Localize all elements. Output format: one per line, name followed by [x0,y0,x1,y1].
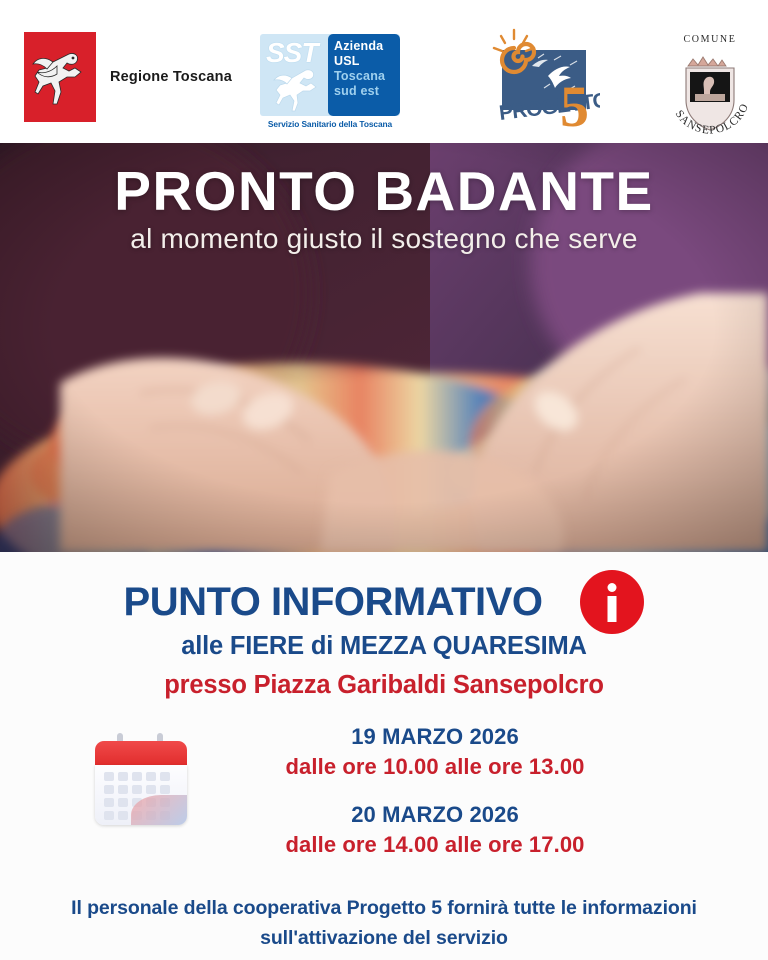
banner-title: PRONTO BADANTE [0,164,768,219]
usl-caption: Servizio Sanitario della Toscana [260,119,400,129]
logo-regione-toscana-label: Regione Toscana [110,69,232,85]
venue-line: presso Piazza Garibaldi Sansepolcro [0,671,768,700]
regione-toscana-shield [24,32,96,122]
logo-comune-sansepolcro: COMUNE SANSEPOLCRO [664,28,756,136]
usl-box: SST Azienda USL Toscana sud est [260,34,400,116]
calendar-header [95,741,187,767]
session-time: dalle ore 10.00 alle ore 13.00 [230,752,640,782]
logo-regione-toscana: Regione Toscana [24,32,232,122]
calendar-icon [95,733,187,829]
event-line: alle FIERE di MEZZA QUARESIMA [0,632,768,661]
heading-row: PUNTO INFORMATIVO [0,570,768,634]
calendar-body [95,765,187,825]
session-date: 20 MARZO 2026 [230,800,640,830]
info-icon-dot [608,583,617,592]
session-time: dalle ore 14.00 alle ore 17.00 [230,830,640,860]
sessions-list: 19 MARZO 2026 dalle ore 10.00 alle ore 1… [230,722,640,860]
calendar-swoosh [131,795,187,825]
logo-azienda-usl: SST Azienda USL Toscana sud est Servizio… [260,34,400,134]
progetto-5-emblem-icon: PROGETTO 5 [484,28,600,136]
usl-line3: Toscana [334,69,400,84]
poster: Regione Toscana SST Azienda USL Toscana … [0,0,768,960]
session-date: 19 MARZO 2026 [230,722,640,752]
info-icon [580,570,644,634]
crowned-shield-icon: SANSEPOLCRO [664,44,756,136]
page-title: PUNTO INFORMATIVO [124,580,543,625]
footer-line-2: sull'attivazione del servizio [0,923,768,953]
banner-photo: PRONTO BADANTE al momento giusto il sost… [0,143,768,552]
usl-line2: USL [334,54,400,69]
usl-line1: Azienda [334,39,400,54]
banner-subtitle: al momento giusto il sostegno che serve [0,223,768,255]
logo-bar: Regione Toscana SST Azienda USL Toscana … [0,0,768,143]
info-icon-stem [608,596,617,622]
pegasus-icon [29,44,91,110]
usl-line4: sud est [334,84,400,99]
footer-line-1: Il personale della cooperativa Progetto … [0,893,768,923]
usl-text-block: Azienda USL Toscana sud est [328,34,400,116]
pegasus-white-icon [270,62,328,112]
footer-note: Il personale della cooperativa Progetto … [0,893,768,953]
logo-progetto-5: PROGETTO 5 [484,28,600,136]
svg-text:5: 5 [560,74,589,136]
